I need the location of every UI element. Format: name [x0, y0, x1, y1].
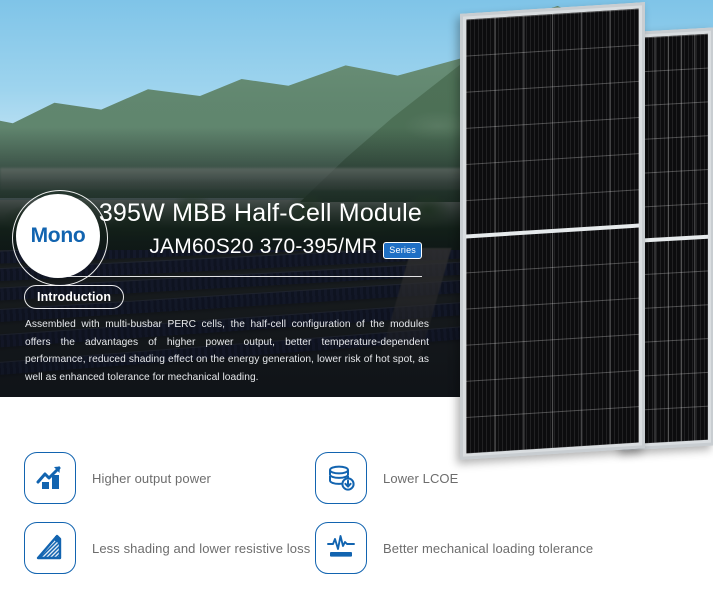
feature-item-mechanical-loading: Better mechanical loading tolerance	[315, 522, 593, 574]
pulse-wave-icon	[315, 522, 367, 574]
feature-label: Better mechanical loading tolerance	[383, 541, 593, 556]
shading-panel-icon	[24, 522, 76, 574]
feature-label: Lower LCOE	[383, 471, 458, 486]
title-divider	[60, 276, 422, 277]
feature-label: Higher output power	[92, 471, 211, 486]
feature-item-higher-output-power: Higher output power	[24, 452, 211, 504]
product-model-row: JAM60S20 370-395/MR Series	[60, 232, 422, 262]
product-title: 395W MBB Half-Cell Module	[60, 196, 422, 230]
product-title-block: 395W MBB Half-Cell Module JAM60S20 370-3…	[60, 196, 422, 262]
introduction-paragraph: Assembled with multi-busbar PERC cells, …	[25, 316, 429, 386]
product-datasheet-page: Mono 395W MBB Half-Cell Module JAM60S20 …	[0, 0, 713, 592]
product-panel-images	[430, 8, 713, 458]
feature-list: Higher output power Lower LCOE	[0, 440, 713, 592]
introduction-label: Introduction	[24, 285, 124, 309]
feature-label: Less shading and lower resistive loss	[92, 541, 310, 556]
solar-panel-front	[460, 2, 645, 460]
feature-item-less-shading: Less shading and lower resistive loss	[24, 522, 310, 574]
series-badge: Series	[383, 242, 422, 259]
feature-item-lower-lcoe: Lower LCOE	[315, 452, 458, 504]
product-model: JAM60S20 370-395/MR	[149, 232, 377, 262]
coins-down-icon	[315, 452, 367, 504]
bar-chart-up-icon	[24, 452, 76, 504]
